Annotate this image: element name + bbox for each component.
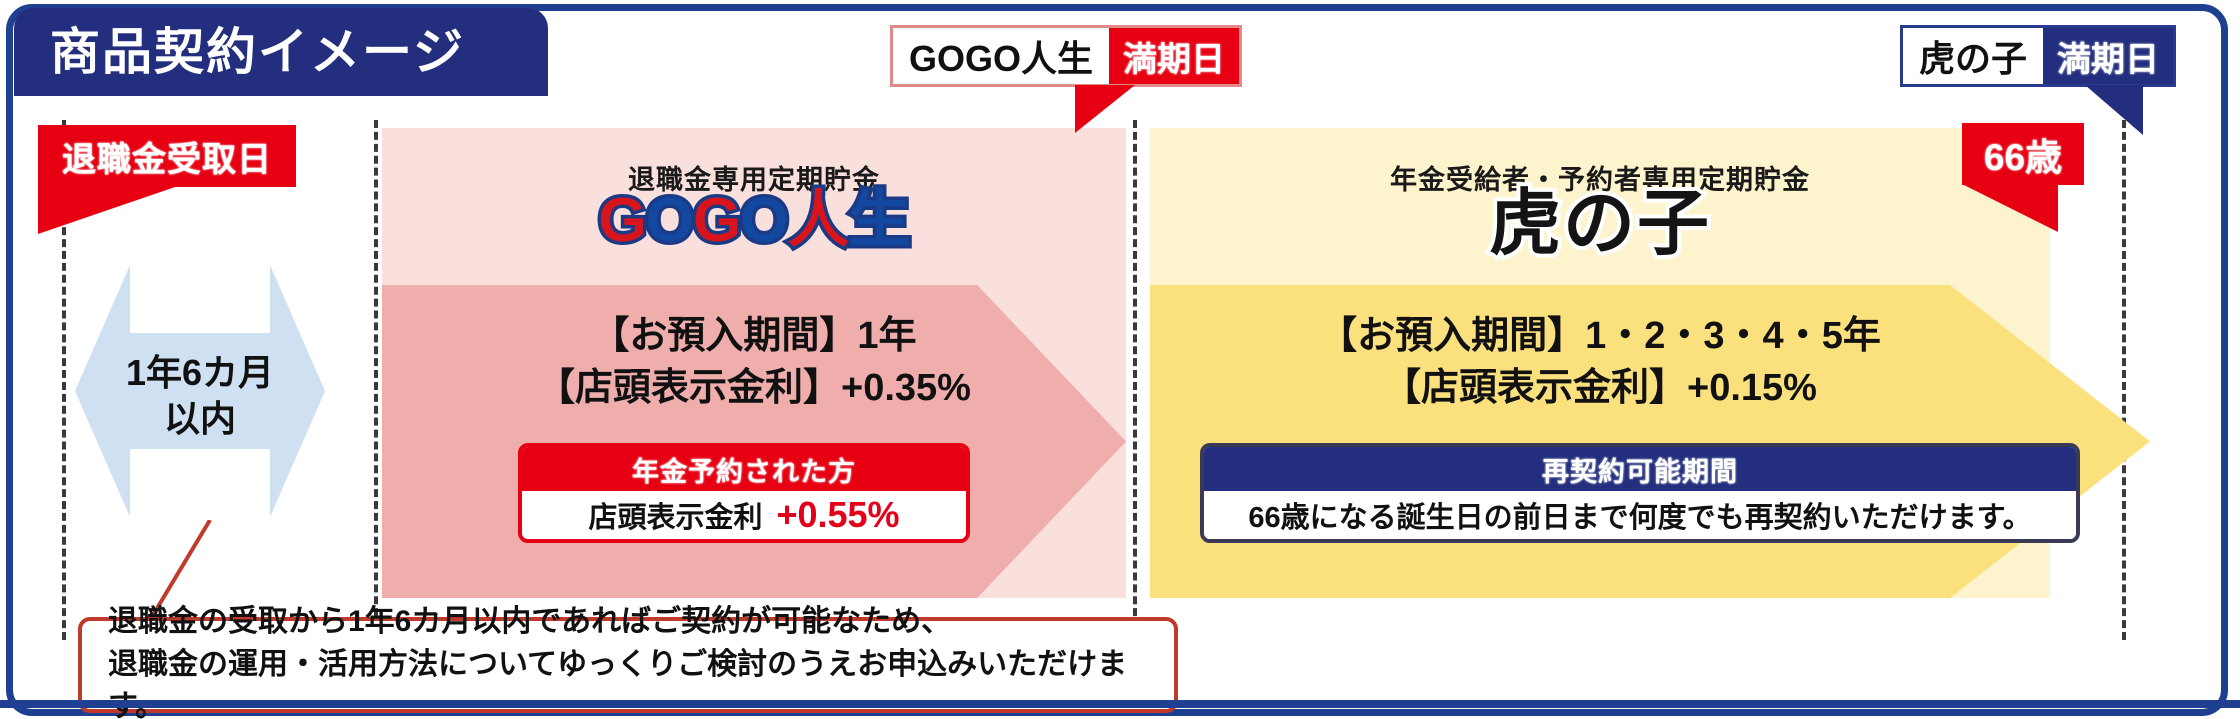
tora-maturity-tag: 満期日 <box>2043 28 2173 84</box>
explanatory-note-line1: 退職金の受取から1年6カ月以内であればご契約が可能なため、 <box>108 601 1174 644</box>
page-title: 商品契約イメージ <box>14 8 548 96</box>
tora-renewal-box-body: 66歳になる誕生日の前日まで何度でも再契約いただけます。 <box>1204 491 2076 539</box>
gogo-maturity-tag: 満期日 <box>1109 28 1239 84</box>
gogo-pension-box: 年金予約された方 店頭表示金利 +0.55% <box>518 443 970 543</box>
tora-rate-line: 【店頭表示金利】+0.15% <box>1150 362 2050 414</box>
gogo-terms: 【お預入期間】1年 【店頭表示金利】+0.35% <box>382 310 1126 415</box>
gogo-maturity-product: GOGO人生 <box>893 28 1109 84</box>
explanatory-note: 退職金の受取から1年6カ月以内であればご契約が可能なため、 退職金の運用・活用方… <box>78 617 1178 713</box>
tora-renewal-box-header-text: 再契約可能期間 <box>1542 450 1738 489</box>
tora-logo: 虎の子 <box>1150 188 2050 261</box>
gogo-pension-rate-value: +0.55% <box>776 494 899 536</box>
tora-maturity-product: 虎の子 <box>1903 28 2043 84</box>
within-18-months-label: 1年6カ月 以内 <box>75 350 325 442</box>
gogo-term-line: 【お預入期間】1年 <box>382 310 1126 362</box>
tora-renewal-box-header: 再契約可能期間 <box>1204 447 2076 491</box>
guide-line-tora-maturity <box>2122 120 2126 640</box>
page-title-text: 商品契約イメージ <box>50 27 465 77</box>
tora-term-line: 【お預入期間】1・2・3・4・5年 <box>1150 310 2050 362</box>
age-66-badge: 66歳 <box>1962 123 2084 185</box>
diagram-canvas: 商品契約イメージ 退職金専用定期貯金 GOGO人生 【お預入期間】1年 【店頭表… <box>0 0 2240 719</box>
gogo-maturity-callout: GOGO人生 満期日 <box>890 25 1242 87</box>
tora-maturity-tag-text: 満期日 <box>2057 32 2159 81</box>
tora-renewal-box: 再契約可能期間 66歳になる誕生日の前日まで何度でも再契約いただけます。 <box>1200 443 2080 543</box>
gogo-maturity-tag-text: 満期日 <box>1123 32 1225 81</box>
gogo-pension-box-body: 店頭表示金利 +0.55% <box>522 491 966 539</box>
guide-line-gogo-maturity <box>1133 120 1137 640</box>
tora-renewal-box-body-text: 66歳になる誕生日の前日まで何度でも再契約いただけます。 <box>1248 494 2031 536</box>
gogo-pension-rate-label: 店頭表示金利 <box>588 494 762 536</box>
within-18-months-line1: 1年6カ月 <box>75 350 325 396</box>
gogo-maturity-product-text: GOGO人生 <box>909 30 1093 82</box>
bottom-stripe <box>0 700 2240 708</box>
age-66-badge-text: 66歳 <box>1984 127 2062 181</box>
gogo-pension-box-header-text: 年金予約された方 <box>632 450 856 489</box>
tora-maturity-product-text: 虎の子 <box>1919 30 2027 82</box>
gogo-logo: GOGO人生 <box>382 190 1126 252</box>
tora-maturity-callout: 虎の子 満期日 <box>1900 25 2176 87</box>
gogo-pension-box-header: 年金予約された方 <box>522 447 966 491</box>
gogo-rate-line: 【店頭表示金利】+0.35% <box>382 362 1126 414</box>
retirement-payout-flag: 退職金受取日 <box>38 125 296 187</box>
tora-terms: 【お預入期間】1・2・3・4・5年 【店頭表示金利】+0.15% <box>1150 310 2050 415</box>
guide-line-pink-start <box>374 120 378 640</box>
retirement-payout-flag-text: 退職金受取日 <box>62 132 272 181</box>
within-18-months-line2: 以内 <box>75 396 325 442</box>
